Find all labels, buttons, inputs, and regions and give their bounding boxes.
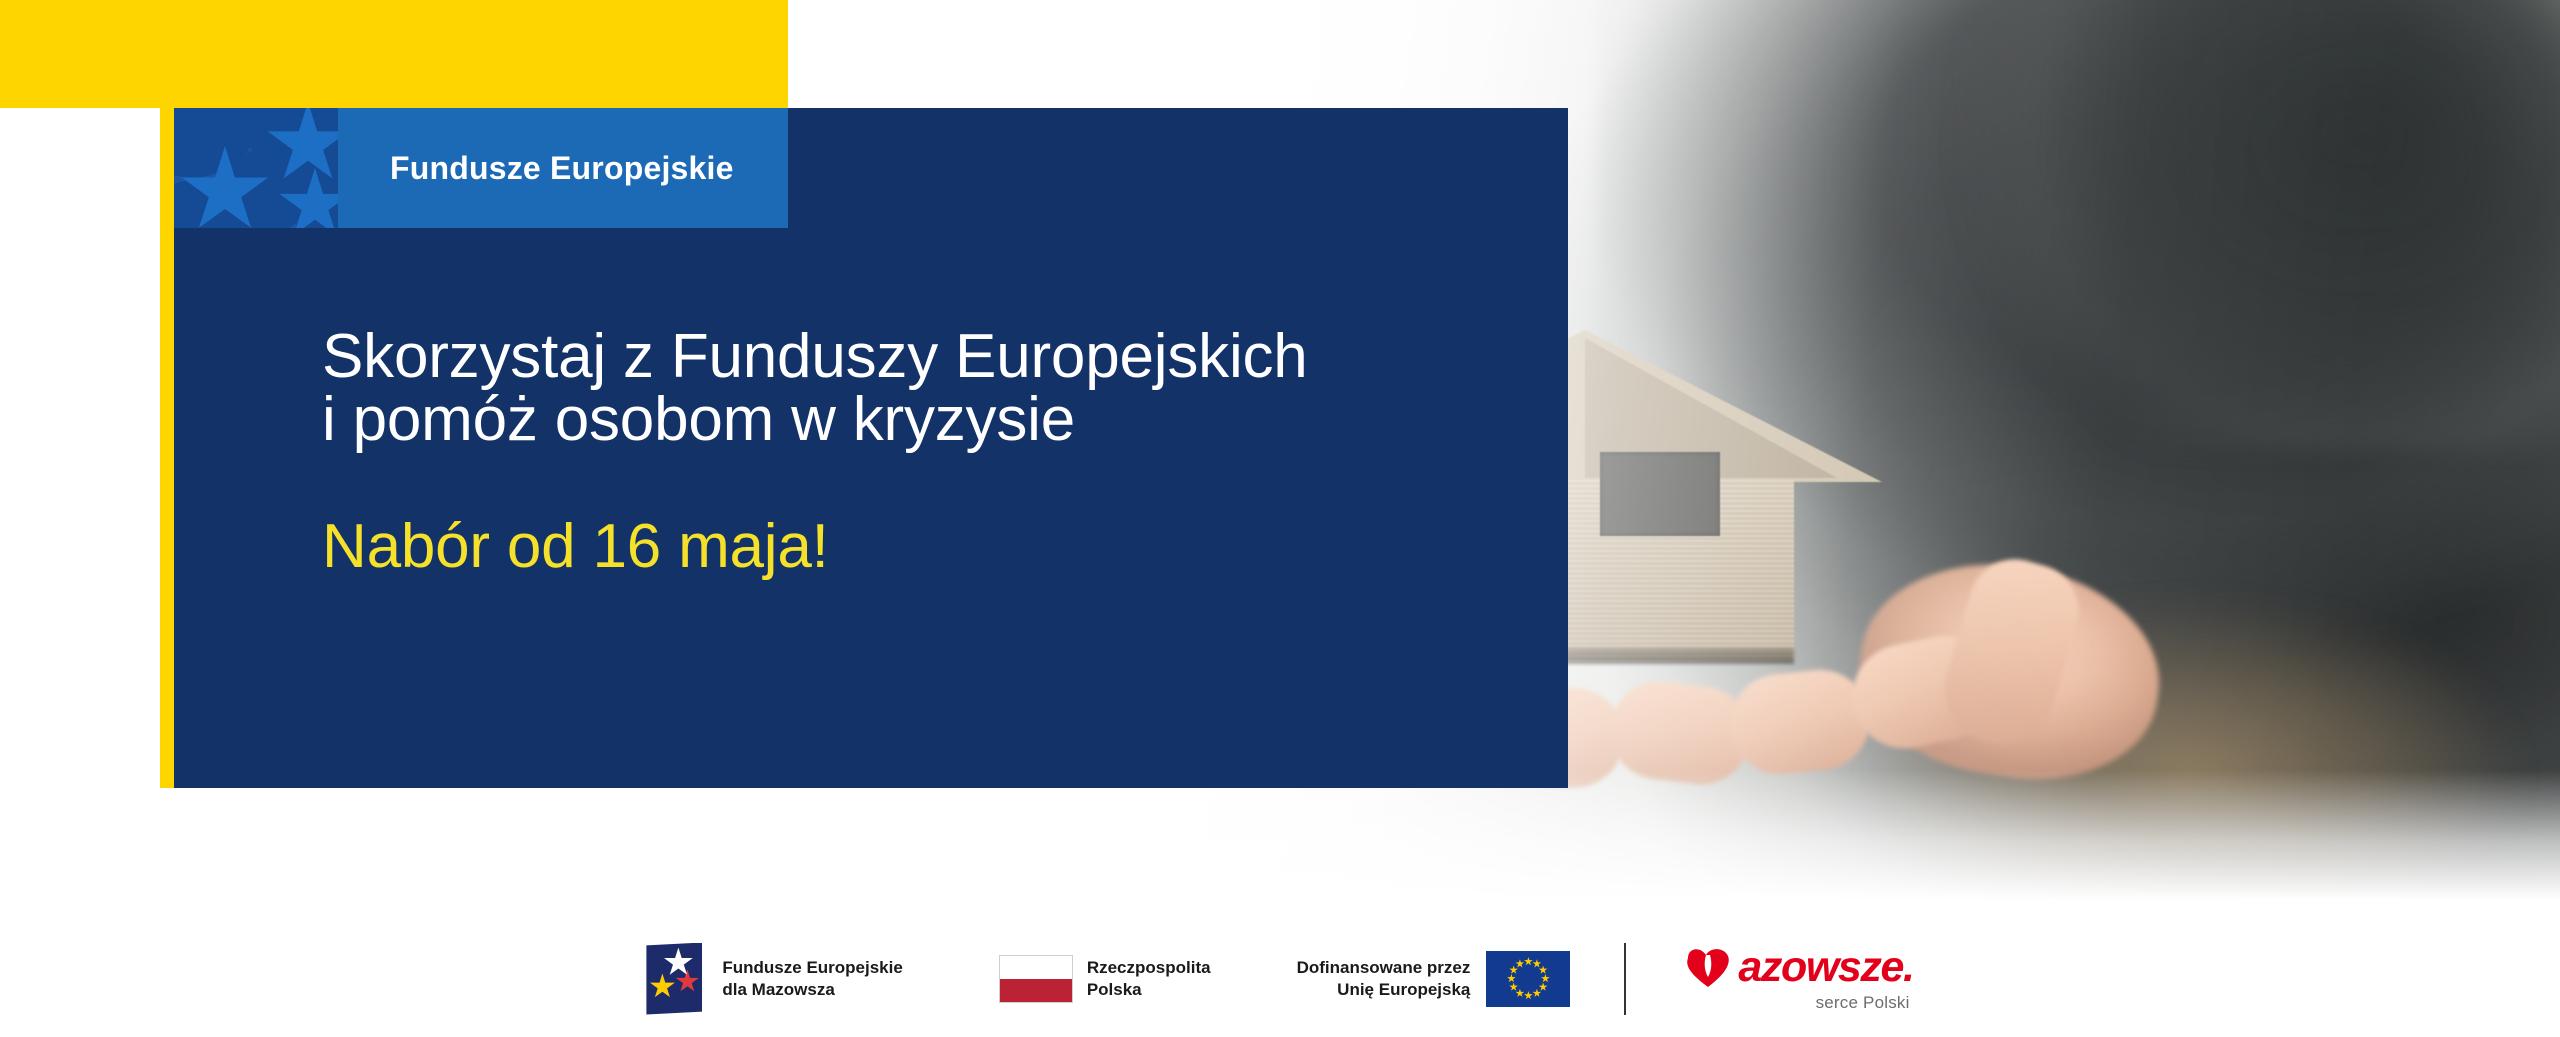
eu-star	[1532, 989, 1541, 998]
mazowsze-tagline: serce Polski	[1816, 993, 1910, 1013]
eu-star	[1524, 957, 1533, 966]
eu-star	[1541, 974, 1550, 983]
unia-line-2: Unię Europejską	[1297, 979, 1471, 1001]
fundusze-line-1: Fundusze Europejskie	[722, 957, 902, 979]
footer-divider	[1624, 943, 1626, 1015]
banner: Fundusze Europejskie Skorzystaj z Fundus…	[0, 0, 2560, 1037]
logo-rzeczpospolita-polska: Rzeczpospolita Polska	[999, 934, 1211, 1024]
badge-label-area: Fundusze Europejskie	[338, 108, 788, 228]
eu-star	[1539, 983, 1548, 992]
eu-flag-icon	[1486, 951, 1570, 1007]
logo-mazowsze: azowsze. serce Polski	[1680, 944, 1913, 1013]
eu-star	[1539, 966, 1548, 975]
eu-star	[1515, 959, 1524, 968]
yellow-accent-block	[0, 0, 788, 108]
eu-star	[1507, 974, 1516, 983]
logo-fundusze-europejskie: Fundusze Europejskie dla Mazowsza	[646, 934, 902, 1024]
fundusze-europejskie-flag-stars-icon	[646, 943, 708, 1015]
fundusze-line-2: dla Mazowsza	[722, 979, 902, 1001]
fundusze-europejskie-badge: Fundusze Europejskie	[174, 108, 788, 228]
headline-line-1: Skorzystaj z Funduszy Europejskich	[322, 325, 1442, 388]
headline-line-2: i pomóż osobom w kryzysie	[322, 388, 1442, 451]
eu-star	[1509, 966, 1518, 975]
logo-unia-europejska: Dofinansowane przez Unię Europejską	[1297, 934, 1571, 1024]
eu-star	[1532, 959, 1541, 968]
badge-label: Fundusze Europejskie	[338, 150, 734, 187]
eu-star	[1515, 989, 1524, 998]
rzeczpospolita-line-1: Rzeczpospolita	[1087, 957, 1211, 979]
poland-flag-icon	[999, 955, 1073, 1003]
eu-star	[1509, 983, 1518, 992]
fundusze-logo-text: Fundusze Europejskie dla Mazowsza	[722, 957, 902, 1001]
rzeczpospolita-line-2: Polska	[1087, 979, 1211, 1001]
footer-logo-strip: Fundusze Europejskie dla Mazowsza Rzeczp…	[0, 920, 2560, 1037]
yellow-accent-strip	[160, 108, 174, 788]
unia-line-1: Dofinansowane przez	[1297, 957, 1471, 979]
mazowsze-heart-icon	[1680, 944, 1736, 990]
mazowsze-wordmark: azowsze.	[1738, 946, 1913, 989]
unia-logo-text: Dofinansowane przez Unię Europejską	[1297, 957, 1471, 1001]
subline-call-date: Nabór od 16 maja!	[322, 515, 829, 578]
eu-star	[1524, 991, 1533, 1000]
photo-bottom-fade	[1100, 770, 2560, 900]
rzeczpospolita-logo-text: Rzeczpospolita Polska	[1087, 957, 1211, 1001]
eu-stars-pattern-icon	[174, 108, 338, 228]
headline: Skorzystaj z Funduszy Europejskich i pom…	[322, 325, 1442, 451]
